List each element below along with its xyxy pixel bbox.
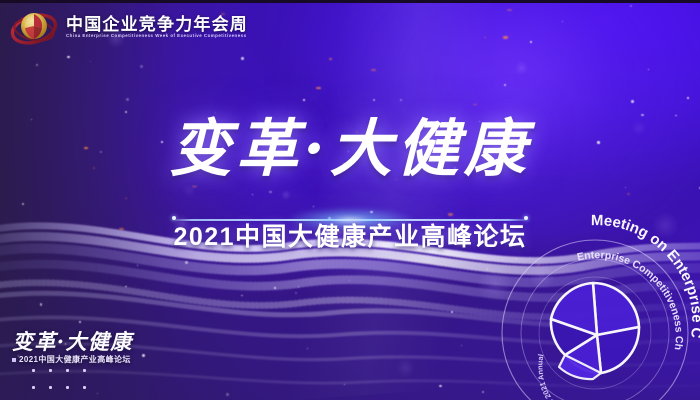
brand-title-en: China Enterprise Competitiveness Week of… xyxy=(66,34,248,39)
brand-title-cn: 中国企业竞争力年会周 xyxy=(66,16,248,33)
event-brand-logo: 中国企业竞争力年会周 China Enterprise Competitiven… xyxy=(10,6,248,48)
competitiveness-emblem-icon xyxy=(10,6,58,48)
watermark-subtitle: 2021中国大健康产业高峰论坛 xyxy=(19,356,131,364)
enterprise-seal-emblem: Meeting on Enterprise Co Enterprise Comp… xyxy=(491,229,700,400)
corner-watermark: 变革·大健康 2021中国大健康产业高峰论坛 xyxy=(12,331,133,392)
poster-canvas: 中国企业竞争力年会周 China Enterprise Competitiven… xyxy=(0,0,700,400)
letterbox-top-bar xyxy=(0,0,700,3)
watermark-dot-grid xyxy=(32,369,133,392)
watermark-title: 变革·大健康 xyxy=(12,331,133,352)
square-bullet-icon xyxy=(12,358,16,362)
hero-title-zone: 变革·大健康 xyxy=(0,118,700,180)
brand-logo-text: 中国企业竞争力年会周 China Enterprise Competitiven… xyxy=(66,16,248,38)
page-title: 变革·大健康 xyxy=(0,118,700,180)
watermark-subtitle-row: 2021中国大健康产业高峰论坛 xyxy=(12,356,133,364)
